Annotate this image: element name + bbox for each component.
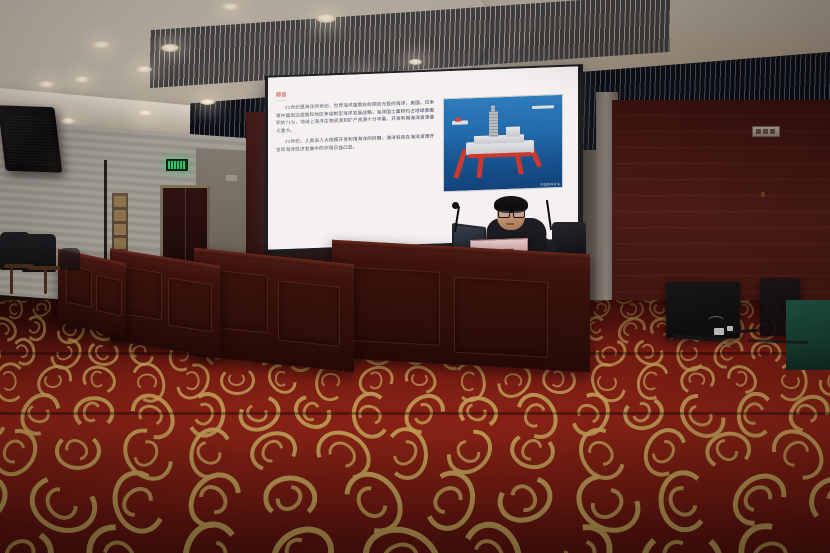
desk-raised-panel <box>66 264 92 308</box>
distant-vessel <box>532 105 554 109</box>
presenter-mouth <box>506 223 514 225</box>
ceiling-downlight <box>409 59 422 65</box>
step-edge <box>0 412 830 415</box>
rig-derrick-top <box>491 105 495 113</box>
microphone-head-icon <box>452 202 459 209</box>
slide-photo-caption: 中国海洋石油 <box>540 182 560 187</box>
front-podium-desk <box>332 240 590 372</box>
side-table-green-cover <box>786 300 830 370</box>
slide-paragraph: 21世纪，人类进入大规模开发利用海洋的时期，海洋科技在海洋资源开发和海洋经济发展… <box>276 133 438 154</box>
ceiling-downlight <box>200 99 215 105</box>
chair-leg <box>44 270 47 294</box>
desk-raised-panel <box>120 266 162 321</box>
sea-gradient <box>444 132 562 192</box>
ceiling-downlight <box>316 14 336 23</box>
rig-derrick <box>489 111 498 137</box>
rig-leg <box>513 146 524 174</box>
desk-tier-3 <box>110 248 220 357</box>
rig-leg <box>453 149 467 179</box>
ceiling-downlight <box>92 41 111 49</box>
supply-vessel <box>452 120 468 125</box>
wall-pole <box>104 160 107 265</box>
exit-sign-glow <box>168 161 186 169</box>
desk-raised-panel <box>454 277 548 358</box>
desk-raised-panel <box>96 275 122 317</box>
supply-vessel-cabin <box>455 118 461 122</box>
wall-speaker-icon <box>0 105 62 172</box>
exit-sign <box>166 159 188 171</box>
slide-body: 21世纪是海洋的世纪，世界海洋国家纷纷把目光投向海洋，美国、日本等中国周边国家和… <box>276 94 570 199</box>
notice-board <box>112 193 128 253</box>
desk-raised-panel <box>278 280 340 347</box>
door-seam <box>185 188 186 266</box>
ceiling-downlight <box>38 81 55 88</box>
speaker-grille <box>3 113 57 165</box>
conference-room-scene: 前言 21世纪是海洋的世纪，世界海洋国家纷纷把目光投向海洋，美国、日本等中国周边… <box>0 0 830 553</box>
slide-paragraph: 21世纪是海洋的世纪，世界海洋国家纷纷把目光投向海洋，美国、日本等中国周边国家和… <box>276 98 438 134</box>
chair-leg <box>10 268 13 294</box>
rig-upper-deck <box>474 134 524 144</box>
wall-knob <box>761 192 765 197</box>
rig-leg <box>477 150 485 178</box>
slide-text-column: 21世纪是海洋的世纪，世界海洋国家纷纷把目光投向海洋，美国、日本等中国周边国家和… <box>276 98 438 198</box>
slide-photo-oil-platform: 中国海洋石油 <box>443 94 563 192</box>
rig-leg <box>527 142 542 168</box>
ceiling-downlight <box>161 44 179 52</box>
coiled-cable <box>706 316 726 332</box>
eyeglasses-icon <box>498 210 523 216</box>
ceiling-downlight <box>61 118 75 124</box>
slide-heading: 前言 <box>276 91 287 101</box>
rig-hull <box>468 152 532 158</box>
wall-switch-plate[interactable] <box>226 175 237 181</box>
ceiling-downlight <box>74 76 90 83</box>
ceiling-downlight <box>221 3 240 11</box>
wall-outlet-panel[interactable] <box>752 126 780 137</box>
audience-chair[interactable] <box>60 248 80 270</box>
ceiling-downlight <box>136 66 152 73</box>
rig-module <box>506 126 520 137</box>
ceiling-downlight <box>138 110 153 116</box>
desk-raised-panel <box>350 267 440 346</box>
rig-deck <box>466 140 534 155</box>
cable-plug <box>727 326 733 331</box>
desk-raised-panel <box>168 277 212 332</box>
